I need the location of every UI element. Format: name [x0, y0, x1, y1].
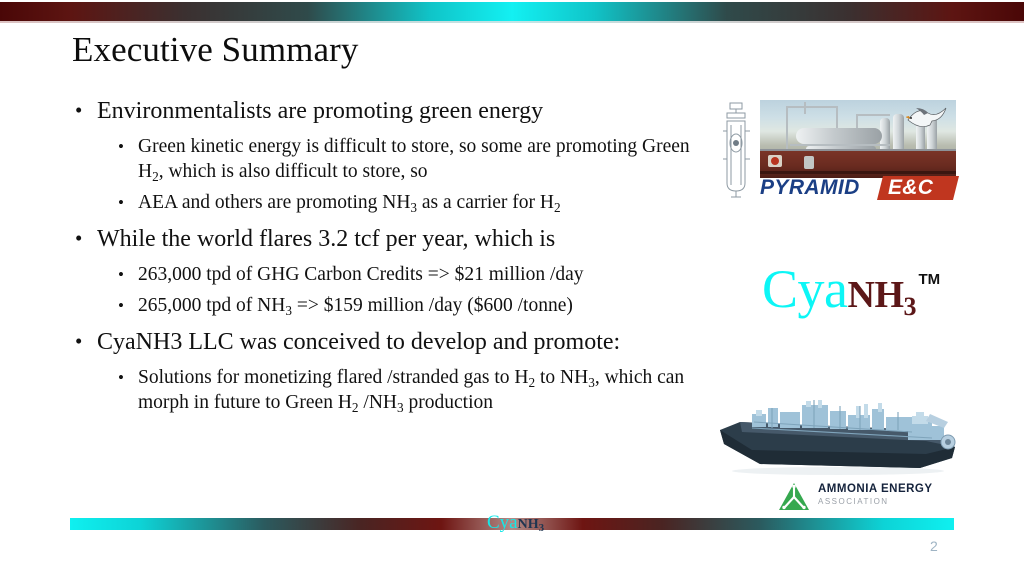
footer-nh-text: NH [518, 517, 539, 532]
page-title: Executive Summary [72, 30, 359, 70]
aea-text-block: AMMONIA ENERGY ASSOCIATION [818, 483, 933, 507]
bullet-text: 265,000 tpd of NH3 => $159 million /day … [138, 295, 573, 316]
bullet-marker: • [118, 365, 124, 390]
pelican-icon [906, 104, 950, 134]
pyramid-name-text: PYRAMID [760, 176, 860, 200]
brand-trademark-text: TM [919, 271, 941, 288]
brand-subscript-text: 3 [904, 292, 917, 321]
ammonia-energy-association-logo: AMMONIA ENERGY ASSOCIATION [778, 482, 950, 512]
footer-cyanh3-mark: CyaNH3 [487, 512, 544, 539]
top-banner [0, 2, 1024, 21]
bullet-text: AEA and others are promoting NH3 as a ca… [138, 192, 561, 213]
bullet-level-2: •Solutions for monetizing flared /strand… [72, 365, 702, 415]
bullet-list: •Environmentalists are promoting green e… [72, 96, 702, 415]
pyramid-ec-badge: E&C [877, 176, 959, 200]
top-banner-edge [0, 21, 1024, 23]
bullet-marker: • [118, 134, 124, 159]
pyramid-wordmark: E&C PYRAMID [760, 176, 956, 200]
brand-cya-text: Cya [762, 259, 848, 319]
bullet-marker: • [118, 190, 124, 215]
footer-cya-text: Cya [487, 512, 518, 533]
cyanh3-brand-mark: CyaNH3TM [762, 258, 940, 330]
bullet-marker: • [75, 326, 82, 357]
vessel-line-drawing [720, 101, 754, 201]
bullet-level-2: •AEA and others are promoting NH3 as a c… [72, 190, 702, 215]
bullet-level-1: •CyaNH3 LLC was conceived to develop and… [72, 327, 702, 358]
bullet-marker: • [118, 262, 124, 287]
aea-subtitle: ASSOCIATION [818, 496, 933, 507]
bullet-text: Green kinetic energy is difficult to sto… [138, 136, 690, 182]
brand-nh-text: NH [848, 274, 904, 316]
bullet-text: Environmentalists are promoting green en… [97, 98, 543, 124]
aea-triangle-icon [778, 482, 810, 511]
bullet-level-1: •Environmentalists are promoting green e… [72, 96, 702, 127]
bullet-level-2: •265,000 tpd of NH3 => $159 million /day… [72, 293, 702, 318]
bullet-marker: • [75, 223, 82, 254]
pyramid-ec-logo: E&C PYRAMID [710, 92, 956, 204]
bullet-text: 263,000 tpd of GHG Carbon Credits => $21… [138, 264, 584, 285]
footer-subscript-text: 3 [539, 522, 545, 534]
bullet-text: Solutions for monetizing flared /strande… [138, 367, 684, 413]
pyramid-facility-photo [760, 100, 956, 178]
bullet-marker: • [118, 293, 124, 318]
bullet-level-2: •Green kinetic energy is difficult to st… [72, 134, 702, 184]
pyramid-ec-text: E&C [888, 176, 933, 200]
bullet-text: CyaNH3 LLC was conceived to develop and … [97, 329, 620, 355]
aea-name: AMMONIA ENERGY [818, 483, 933, 496]
bullet-level-2: •263,000 tpd of GHG Carbon Credits => $2… [72, 262, 702, 287]
bullet-marker: • [75, 95, 82, 126]
bullet-text: While the world flares 3.2 tcf per year,… [97, 226, 555, 252]
page-number: 2 [930, 538, 938, 554]
bullet-level-1: •While the world flares 3.2 tcf per year… [72, 224, 702, 255]
fpso-vessel-image [712, 392, 964, 476]
